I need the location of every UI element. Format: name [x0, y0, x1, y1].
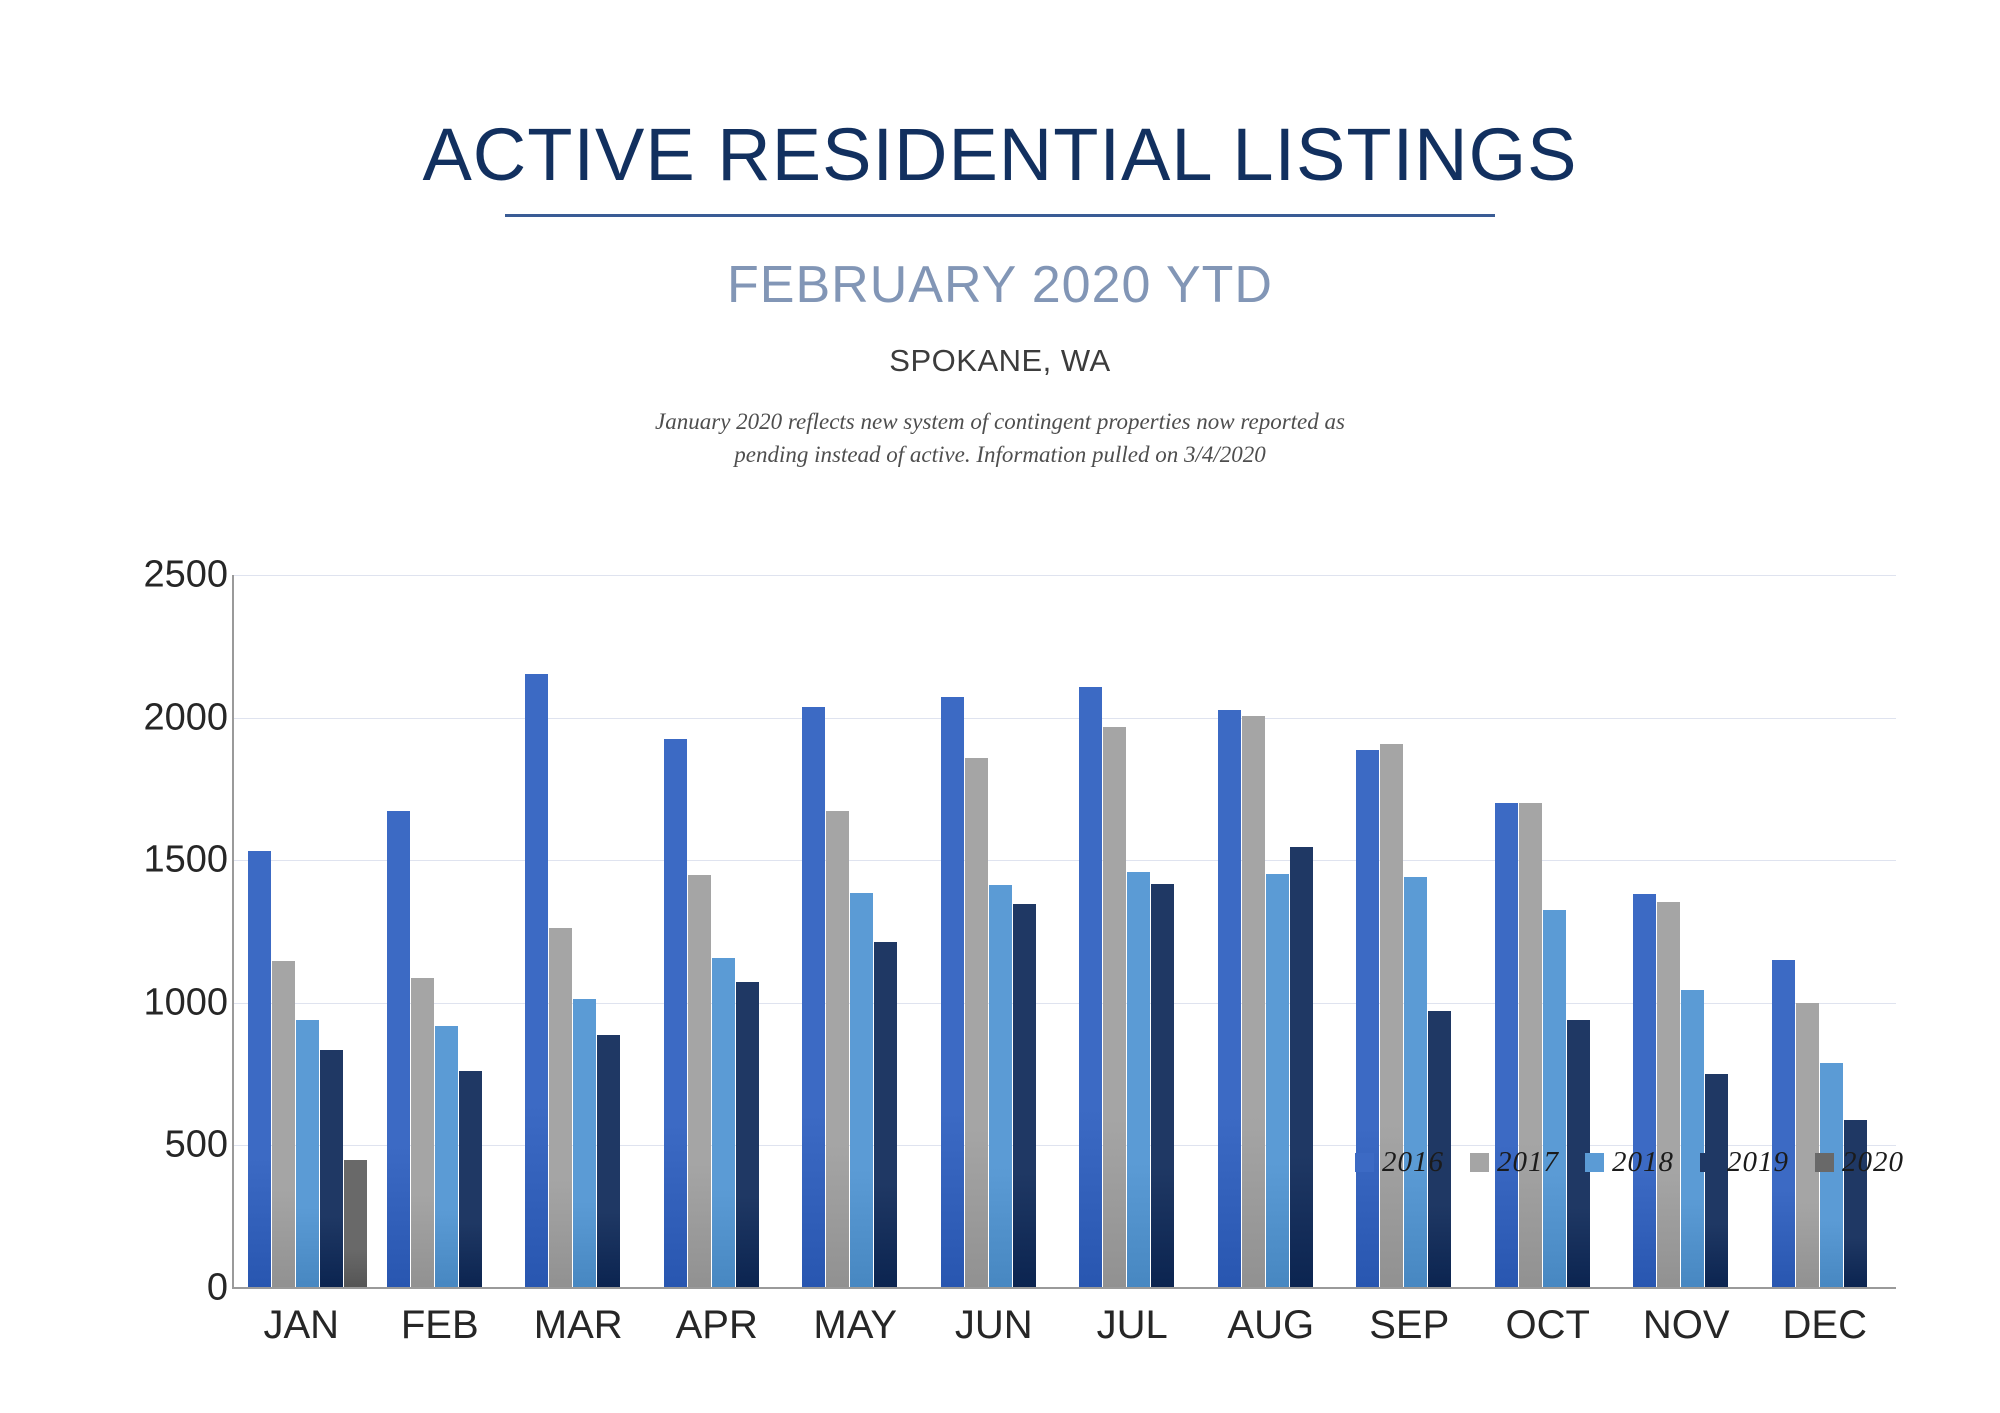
bar-2019-mar[interactable]: [597, 1035, 620, 1288]
legend-label-2020: 2020: [1842, 1146, 1904, 1179]
bar-group-jan: [234, 575, 373, 1288]
bar-2018-aug[interactable]: [1266, 874, 1289, 1288]
bar-2018-may[interactable]: [850, 893, 873, 1288]
bar-2016-jan[interactable]: [248, 851, 271, 1288]
y-tick-label: 2500: [143, 554, 228, 597]
bar-group-jun: [927, 575, 1066, 1288]
bar-2016-nov[interactable]: [1633, 894, 1656, 1288]
chart-header: ACTIVE RESIDENTIAL LISTINGS FEBRUARY 202…: [0, 0, 2000, 471]
y-tick-label: 500: [165, 1124, 228, 1167]
bar-group-may: [788, 575, 927, 1288]
chart-location: SPOKANE, WA: [0, 345, 2000, 376]
legend-swatch-2017: [1470, 1153, 1489, 1172]
x-axis: JANFEBMARAPRMAYJUNJULAUGSEPOCTNOVDEC: [232, 1303, 1894, 1348]
bar-2019-aug[interactable]: [1290, 847, 1313, 1288]
x-tick-label: JUL: [1063, 1303, 1202, 1348]
bar-group-aug: [1204, 575, 1343, 1288]
page-title: ACTIVE RESIDENTIAL LISTINGS: [0, 118, 2000, 192]
title-underline-rule: [505, 214, 1495, 217]
y-tick-label: 2000: [143, 696, 228, 739]
bar-2017-aug[interactable]: [1242, 716, 1265, 1288]
bar-2018-feb[interactable]: [435, 1026, 458, 1288]
bar-group-mar: [511, 575, 650, 1288]
bar-2020-jan[interactable]: [344, 1160, 367, 1288]
bar-2019-may[interactable]: [874, 942, 897, 1288]
bar-2018-apr[interactable]: [712, 958, 735, 1288]
bar-2016-oct[interactable]: [1495, 803, 1518, 1288]
bar-group-feb: [373, 575, 512, 1288]
bar-2019-apr[interactable]: [736, 982, 759, 1288]
x-tick-label: DEC: [1756, 1303, 1895, 1348]
bar-2018-mar[interactable]: [573, 999, 596, 1288]
bar-2017-sep[interactable]: [1380, 744, 1403, 1288]
legend-item-2017[interactable]: 2017: [1470, 1146, 1559, 1179]
bar-group-sep: [1342, 575, 1481, 1288]
bars-layer: [234, 575, 1896, 1288]
chart-footnote: January 2020 reflects new system of cont…: [0, 406, 2000, 471]
legend-item-2016[interactable]: 2016: [1355, 1146, 1444, 1179]
bar-2017-jun[interactable]: [965, 758, 988, 1288]
legend-label-2016: 2016: [1382, 1146, 1444, 1179]
bar-2018-jul[interactable]: [1127, 872, 1150, 1288]
legend-item-2018[interactable]: 2018: [1585, 1146, 1674, 1179]
x-tick-label: APR: [648, 1303, 787, 1348]
bar-2019-feb[interactable]: [459, 1071, 482, 1288]
bar-2017-apr[interactable]: [688, 875, 711, 1288]
bar-2018-jun[interactable]: [989, 885, 1012, 1288]
bar-chart: 05001000150020002500 JANFEBMARAPRMAYJUNJ…: [0, 548, 2000, 1378]
bar-2019-jan[interactable]: [320, 1050, 343, 1288]
bar-2019-jun[interactable]: [1013, 904, 1036, 1288]
x-tick-label: JAN: [232, 1303, 371, 1348]
bar-2016-apr[interactable]: [664, 739, 687, 1288]
bar-2016-mar[interactable]: [525, 674, 548, 1288]
x-tick-label: AUG: [1202, 1303, 1341, 1348]
bar-2016-jul[interactable]: [1079, 687, 1102, 1288]
legend-item-2020[interactable]: 2020: [1815, 1146, 1904, 1179]
bar-2016-feb[interactable]: [387, 811, 410, 1288]
legend-swatch-2020: [1815, 1153, 1834, 1172]
x-tick-label: MAY: [786, 1303, 925, 1348]
bar-2016-aug[interactable]: [1218, 710, 1241, 1288]
legend-swatch-2018: [1585, 1153, 1604, 1172]
x-tick-label: JUN: [925, 1303, 1064, 1348]
legend-item-2019[interactable]: 2019: [1700, 1146, 1789, 1179]
x-tick-label: FEB: [371, 1303, 510, 1348]
bar-group-oct: [1481, 575, 1620, 1288]
bar-2018-sep[interactable]: [1404, 877, 1427, 1288]
bar-group-nov: [1619, 575, 1758, 1288]
bar-2019-nov[interactable]: [1705, 1074, 1728, 1288]
bar-2018-jan[interactable]: [296, 1020, 319, 1288]
x-axis-line: [232, 1287, 1896, 1289]
bar-group-apr: [650, 575, 789, 1288]
legend-label-2017: 2017: [1497, 1146, 1559, 1179]
x-tick-label: SEP: [1340, 1303, 1479, 1348]
bar-2019-jul[interactable]: [1151, 884, 1174, 1288]
bar-2017-jan[interactable]: [272, 961, 295, 1288]
bar-2017-jul[interactable]: [1103, 727, 1126, 1288]
bar-2017-mar[interactable]: [549, 928, 572, 1288]
plot-area: [232, 575, 1896, 1288]
bar-2018-oct[interactable]: [1543, 910, 1566, 1288]
footnote-line-2: pending instead of active. Information p…: [0, 439, 2000, 472]
legend-label-2018: 2018: [1612, 1146, 1674, 1179]
chart-legend: 20162017201820192020: [1355, 1146, 1904, 1179]
bar-2016-dec[interactable]: [1772, 960, 1795, 1288]
x-tick-label: MAR: [509, 1303, 648, 1348]
footnote-line-1: January 2020 reflects new system of cont…: [0, 406, 2000, 439]
legend-swatch-2019: [1700, 1153, 1719, 1172]
bar-2018-nov[interactable]: [1681, 990, 1704, 1288]
bar-2016-may[interactable]: [802, 707, 825, 1288]
bar-group-jul: [1065, 575, 1204, 1288]
bar-2017-oct[interactable]: [1519, 803, 1542, 1288]
bar-2017-may[interactable]: [826, 811, 849, 1288]
x-tick-label: OCT: [1479, 1303, 1618, 1348]
bar-2017-feb[interactable]: [411, 978, 434, 1288]
legend-label-2019: 2019: [1727, 1146, 1789, 1179]
y-tick-label: 1000: [143, 981, 228, 1024]
bar-2016-sep[interactable]: [1356, 750, 1379, 1288]
x-tick-label: NOV: [1617, 1303, 1756, 1348]
y-tick-label: 1500: [143, 839, 228, 882]
chart-subtitle: FEBRUARY 2020 YTD: [0, 259, 2000, 311]
legend-swatch-2016: [1355, 1153, 1374, 1172]
bar-group-dec: [1758, 575, 1897, 1288]
bar-2016-jun[interactable]: [941, 697, 964, 1289]
bar-2017-nov[interactable]: [1657, 902, 1680, 1288]
y-tick-label: 0: [207, 1267, 228, 1310]
y-axis: 05001000150020002500: [108, 548, 228, 1288]
